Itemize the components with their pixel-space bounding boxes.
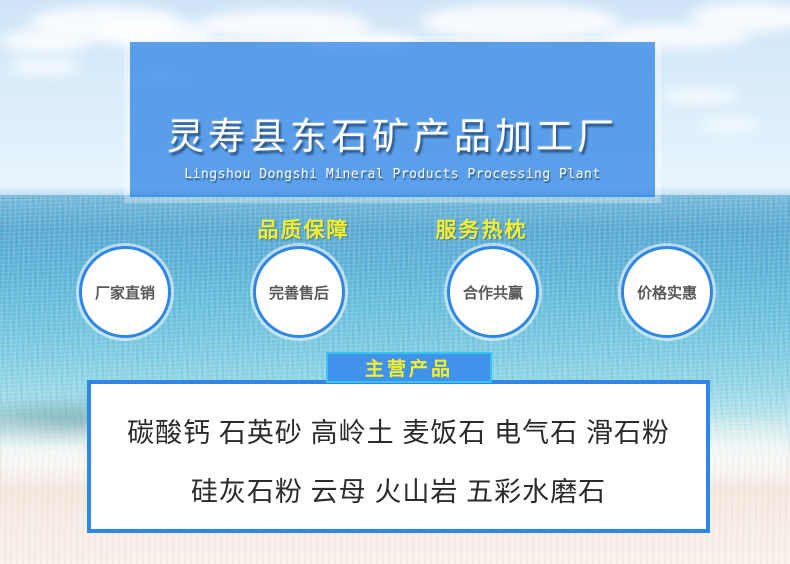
main-products-tab-label: 主营产品 — [365, 354, 453, 381]
main-products-tab: 主营产品 — [326, 352, 492, 383]
slogan-service: 服务热枕 — [436, 214, 528, 244]
feature-label: 厂家直销 — [95, 282, 155, 303]
feature-circle-affordable-price[interactable]: 价格实惠 — [621, 246, 713, 338]
products-list-box: 碳酸钙 石英砂 高岭土 麦饭石 电气石 滑石粉 硅灰石粉 云母 火山岩 五彩水磨… — [87, 380, 710, 533]
slogan-row: 品质保障 服务热枕 — [130, 214, 655, 244]
product-row: 硅灰石粉 云母 火山岩 五彩水磨石 — [91, 470, 706, 509]
header-panel: 灵寿县东石矿产品加工厂 Lingshou Dongshi Mineral Pro… — [130, 42, 655, 197]
slogan-quality: 品质保障 — [258, 214, 350, 244]
feature-circle-win-win[interactable]: 合作共赢 — [447, 246, 539, 338]
feature-label: 合作共赢 — [463, 282, 523, 303]
company-title-english: Lingshou Dongshi Mineral Products Proces… — [130, 167, 655, 182]
product-row: 碳酸钙 石英砂 高岭土 麦饭石 电气石 滑石粉 — [91, 411, 706, 450]
company-title-chinese: 灵寿县东石矿产品加工厂 — [130, 106, 655, 160]
feature-label: 价格实惠 — [637, 282, 697, 303]
feature-circle-after-sales[interactable]: 完善售后 — [253, 246, 345, 338]
feature-circle-row: 厂家直销 完善售后 合作共赢 价格实惠 — [0, 246, 790, 341]
feature-circle-factory-direct[interactable]: 厂家直销 — [79, 246, 171, 338]
feature-label: 完善售后 — [269, 282, 329, 303]
